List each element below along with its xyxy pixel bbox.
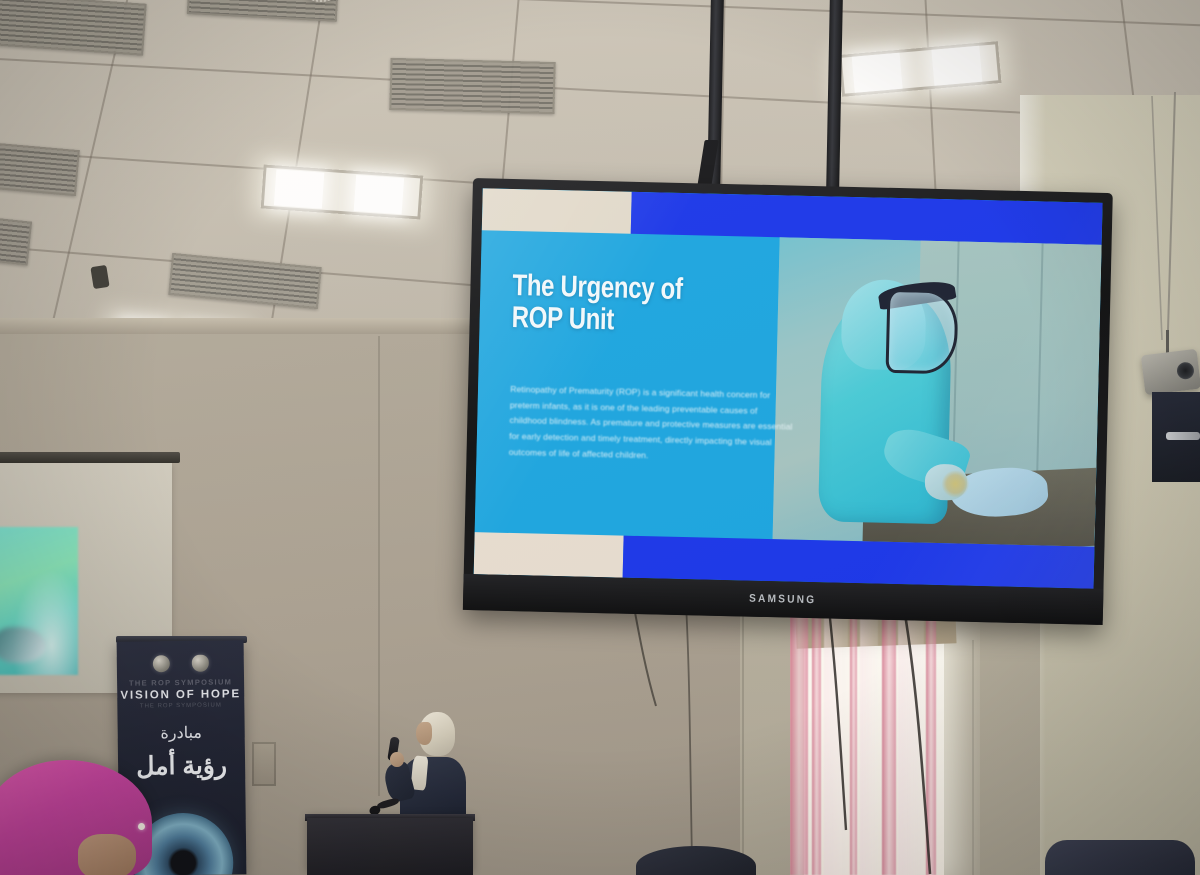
slide-body-text: Retinopathy of Prematurity (ROP) is a si… xyxy=(509,382,796,467)
tv-screen: The Urgency of ROP Unit Retinopathy of P… xyxy=(474,188,1103,588)
podium xyxy=(307,818,473,875)
slide-band-cream xyxy=(474,532,624,578)
shield-icon xyxy=(191,655,208,672)
wall-mounted-television: The Urgency of ROP Unit Retinopathy of P… xyxy=(463,178,1113,625)
foreground-attendee-face xyxy=(78,834,136,875)
slide-title-line-2: ROP Unit xyxy=(512,302,741,340)
foreground-chair xyxy=(1045,840,1195,875)
speaker-hand xyxy=(390,752,404,767)
presentation-slide: The Urgency of ROP Unit Retinopathy of P… xyxy=(474,188,1103,588)
banner-subtitle-faint: THE ROP SYMPOSIUM xyxy=(117,702,244,710)
photo-blue-tint xyxy=(772,238,1101,547)
slide-photo xyxy=(772,238,1101,547)
banner-arabic-line-1: مبادرة xyxy=(118,722,245,744)
banner-arabic-line-2: رؤية أمل xyxy=(118,750,245,782)
banner-title-en: VISION OF HOPE xyxy=(117,688,244,702)
hijab-pin-icon xyxy=(138,823,145,830)
slide-title: The Urgency of ROP Unit xyxy=(512,270,742,340)
slide-band-cream xyxy=(482,188,632,234)
conference-room-photo: The Urgency of ROP Unit Retinopathy of P… xyxy=(0,0,1200,875)
banner-symposium-faint: THE ROP SYMPOSIUM xyxy=(117,677,244,688)
speaker-face xyxy=(416,722,432,745)
emblem-icon xyxy=(152,655,169,672)
banner-logo-row xyxy=(117,654,244,673)
samsung-logo: SAMSUNG xyxy=(749,593,816,607)
